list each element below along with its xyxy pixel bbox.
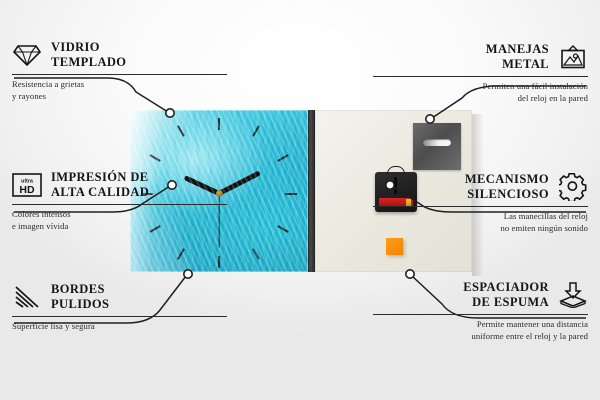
svg-text:HD: HD — [19, 184, 35, 196]
callout-title: VIDRIO TEMPLADO — [51, 40, 126, 70]
callout-title: MANEJAS METAL — [486, 42, 549, 72]
callout-title: BORDES PULIDOS — [51, 282, 109, 312]
clock-tick — [277, 225, 288, 233]
metal-hanger-plate — [413, 123, 461, 170]
clock-tick — [252, 248, 260, 259]
clock-center-cap — [216, 190, 223, 197]
callout-description: Resistencia a grietas y rayones — [12, 79, 227, 103]
clock-tick — [149, 154, 160, 162]
foam-spacer-arrow-icon — [558, 280, 588, 310]
callout-divider — [12, 74, 227, 75]
clock-side-edge — [308, 110, 315, 272]
callout-header: MECANISMO SILENCIOSO — [373, 172, 588, 202]
callout-divider — [373, 314, 588, 315]
diamond-icon — [12, 40, 42, 70]
callout-espaciador-de-espuma: ESPACIADOR DE ESPUMA Permite mantener un… — [373, 280, 588, 343]
callout-mecanismo-silencioso: MECANISMO SILENCIOSO Las manecillas del … — [373, 172, 588, 235]
callout-description: Superficie lisa y segura — [12, 321, 227, 333]
callout-bordes-pulidos: BORDES PULIDOS Superficie lisa y segura — [12, 282, 227, 333]
callout-header: ultra HD IMPRESIÓN DE ALTA CALIDAD — [12, 170, 227, 200]
callout-impresion-alta-calidad: ultra HD IMPRESIÓN DE ALTA CALIDAD Color… — [12, 170, 227, 233]
callout-title: ESPACIADOR DE ESPUMA — [463, 280, 549, 310]
callout-header: VIDRIO TEMPLADO — [12, 40, 227, 70]
clock-tick — [218, 256, 220, 268]
callout-description: Permiten una fácil instalación del reloj… — [373, 81, 588, 105]
polished-edge-icon — [12, 282, 42, 312]
picture-frame-hanging-icon — [558, 42, 588, 72]
clock-tick — [252, 125, 260, 136]
callout-title: MECANISMO SILENCIOSO — [465, 172, 549, 202]
clock-tick — [218, 118, 220, 130]
callout-description: Permite mantener una distancia uniforme … — [373, 319, 588, 343]
callout-divider — [12, 204, 227, 205]
clock-tick — [177, 125, 185, 136]
clock-tick — [177, 248, 185, 259]
callout-vidrio-templado: VIDRIO TEMPLADO Resistencia a grietas y … — [12, 40, 227, 103]
hanger-slot — [423, 139, 451, 146]
gear-icon — [558, 172, 588, 202]
callout-header: BORDES PULIDOS — [12, 282, 227, 312]
callout-description: Colores intensos e imagen vívida — [12, 209, 227, 233]
callout-description: Las manecillas del reloj no emiten ningú… — [373, 211, 588, 235]
clock-tick — [285, 193, 297, 195]
clock-tick — [277, 154, 288, 162]
callout-divider — [12, 316, 227, 317]
callout-manejas-metal: MANEJAS METAL Permiten una fácil instala… — [373, 42, 588, 105]
callout-header: MANEJAS METAL — [373, 42, 588, 72]
callout-title: IMPRESIÓN DE ALTA CALIDAD — [51, 170, 149, 200]
callout-header: ESPACIADOR DE ESPUMA — [373, 280, 588, 310]
ultra-hd-icon: ultra HD — [12, 170, 42, 200]
foam-spacer — [386, 238, 403, 255]
infographic-stage: VIDRIO TEMPLADO Resistencia a grietas y … — [0, 0, 600, 400]
callout-divider — [373, 76, 588, 77]
callout-divider — [373, 206, 588, 207]
